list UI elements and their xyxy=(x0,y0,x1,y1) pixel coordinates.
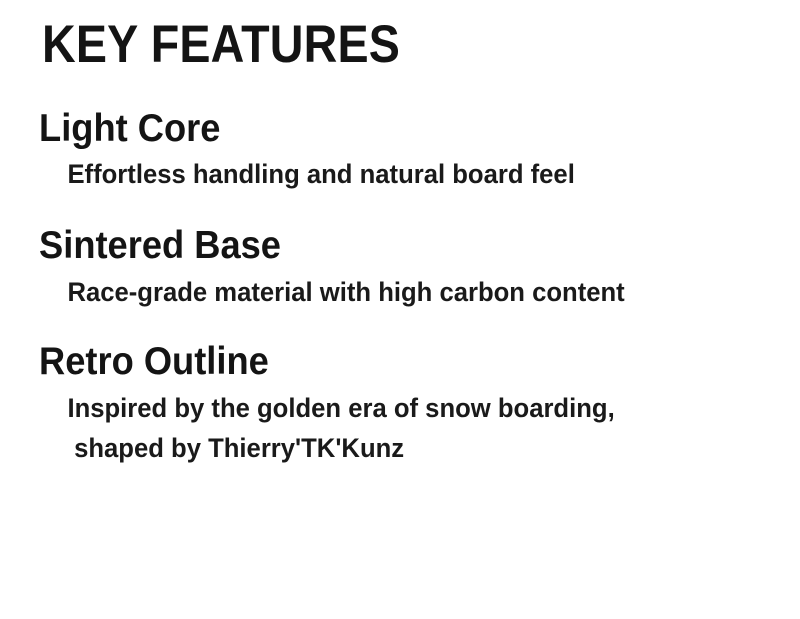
feature-heading: Sintered Base xyxy=(0,220,744,272)
feature-heading: Retro Outline xyxy=(0,336,744,388)
feature-item-sintered-base: Sintered Base Race-grade material with h… xyxy=(0,220,800,312)
feature-description: Inspired by the golden era of snow board… xyxy=(0,388,760,428)
feature-description: Race-grade material with high carbon con… xyxy=(0,272,760,312)
feature-item-retro-outline: Retro Outline Inspired by the golden era… xyxy=(0,336,800,468)
page-title: KEY FEATURES xyxy=(42,16,400,74)
feature-description-continued: shaped by Thierry'TK'Kunz xyxy=(0,428,760,468)
key-features-panel: KEY FEATURES Light Core Effortless handl… xyxy=(0,0,800,619)
feature-list: Light Core Effortless handling and natur… xyxy=(0,104,800,490)
feature-heading: Light Core xyxy=(0,104,744,154)
feature-description: Effortless handling and natural board fe… xyxy=(0,154,760,194)
feature-item-light-core: Light Core Effortless handling and natur… xyxy=(0,104,800,194)
